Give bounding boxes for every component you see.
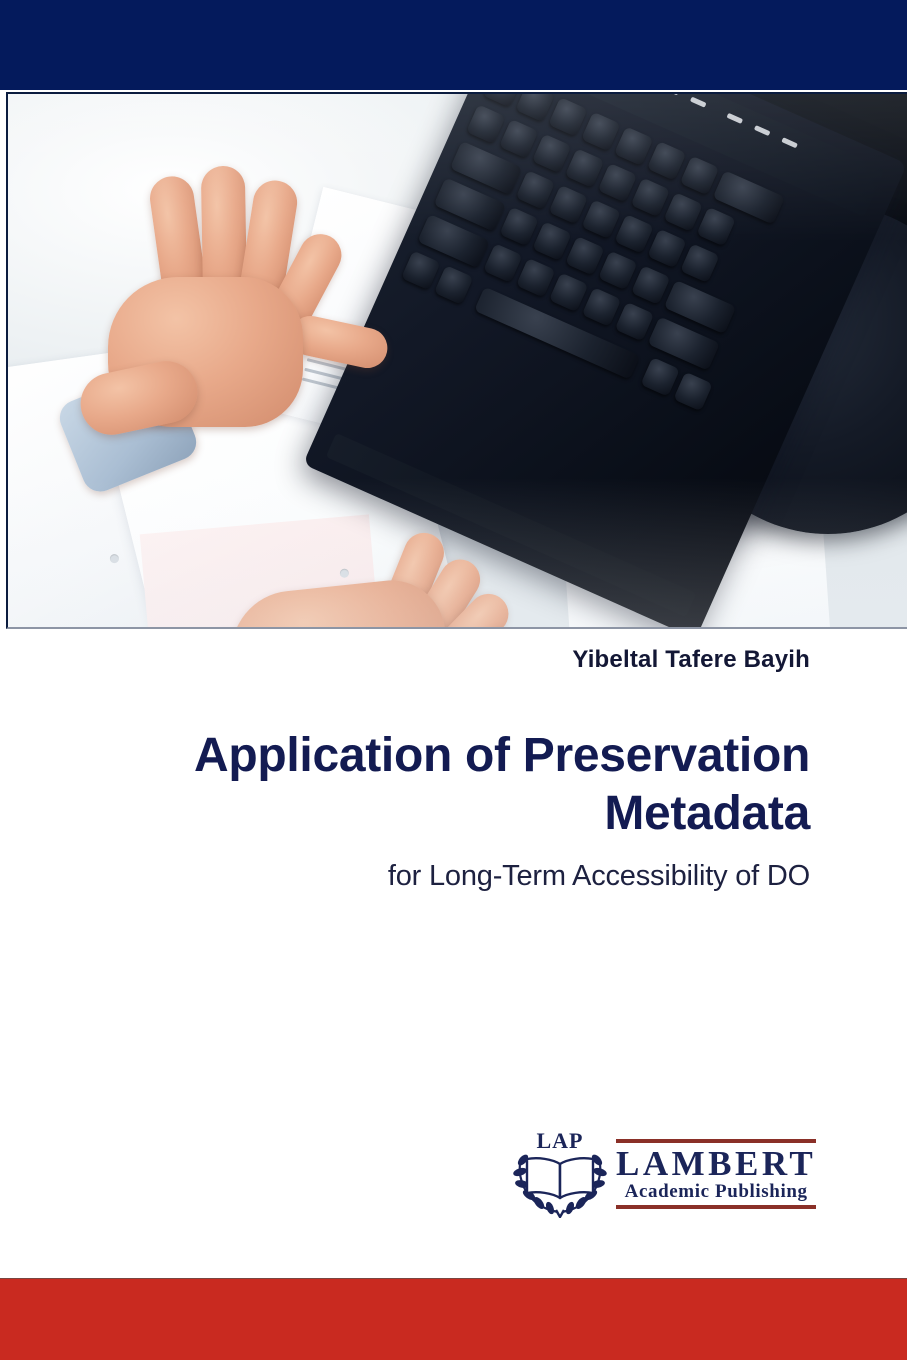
keyboard-key bbox=[549, 185, 589, 225]
keyboard-key bbox=[647, 229, 687, 269]
keyboard-key bbox=[516, 258, 556, 298]
keyboard-key bbox=[598, 163, 638, 203]
top-color-band bbox=[0, 0, 907, 90]
logo-rule-bottom bbox=[616, 1205, 816, 1209]
logo-rule-top bbox=[616, 1139, 816, 1143]
keyboard-key bbox=[598, 251, 638, 291]
book-title: Application of Preservation Metadata bbox=[60, 727, 810, 844]
keyboard-key bbox=[614, 214, 654, 254]
publisher-tagline: Academic Publishing bbox=[616, 1181, 816, 1203]
cover-text-block: Yibeltal Tafere Bayih Application of Pre… bbox=[60, 646, 810, 894]
keyboard-key bbox=[673, 372, 713, 412]
keyboard-key bbox=[516, 170, 556, 210]
keyboard-key bbox=[631, 178, 671, 218]
cover-photo-scene bbox=[8, 94, 907, 627]
keyboard-key bbox=[565, 236, 605, 276]
lap-acronym: LAP bbox=[537, 1128, 584, 1154]
keyboard-key bbox=[615, 302, 655, 342]
keyboard-key bbox=[434, 265, 474, 305]
keyboard-led bbox=[663, 94, 680, 95]
keyboard-key bbox=[549, 273, 589, 313]
hand-reaching-up bbox=[78, 182, 378, 442]
keyboard-led bbox=[754, 125, 771, 136]
keyboard-key bbox=[631, 265, 671, 305]
open-book-laurel-icon: LAP bbox=[512, 1130, 608, 1218]
keyboard-key bbox=[565, 148, 605, 188]
publisher-name: LAMBERT bbox=[616, 1146, 816, 1182]
keyboard-key bbox=[532, 134, 572, 174]
book-cover: Yibeltal Tafere Bayih Application of Pre… bbox=[0, 0, 907, 1360]
keyboard-key bbox=[483, 243, 523, 283]
publisher-logo: LAP LAMBERT Academic Publishing bbox=[512, 1128, 812, 1220]
keyboard-key bbox=[499, 207, 539, 247]
keyboard-key bbox=[582, 287, 622, 327]
keyboard-key bbox=[640, 357, 680, 397]
keyboard-key bbox=[499, 119, 539, 159]
keyboard-led bbox=[781, 137, 798, 148]
keyboard-key bbox=[515, 94, 555, 122]
publisher-wordmark: LAMBERT Academic Publishing bbox=[616, 1133, 816, 1216]
cover-photo bbox=[6, 92, 907, 629]
keyboard-key bbox=[680, 243, 720, 283]
keyboard-key bbox=[532, 221, 572, 261]
keyboard-key bbox=[663, 192, 703, 232]
keyboard-key bbox=[696, 207, 736, 247]
keyboard-key bbox=[581, 199, 621, 239]
book-subtitle: for Long-Term Accessibility of DO bbox=[60, 858, 810, 894]
bottom-color-band bbox=[0, 1278, 907, 1360]
author-name: Yibeltal Tafere Bayih bbox=[60, 646, 810, 675]
keyboard-led bbox=[726, 113, 743, 124]
hand-palm-up bbox=[203, 524, 533, 627]
punch-hole bbox=[109, 554, 119, 564]
keyboard-led bbox=[690, 97, 707, 108]
